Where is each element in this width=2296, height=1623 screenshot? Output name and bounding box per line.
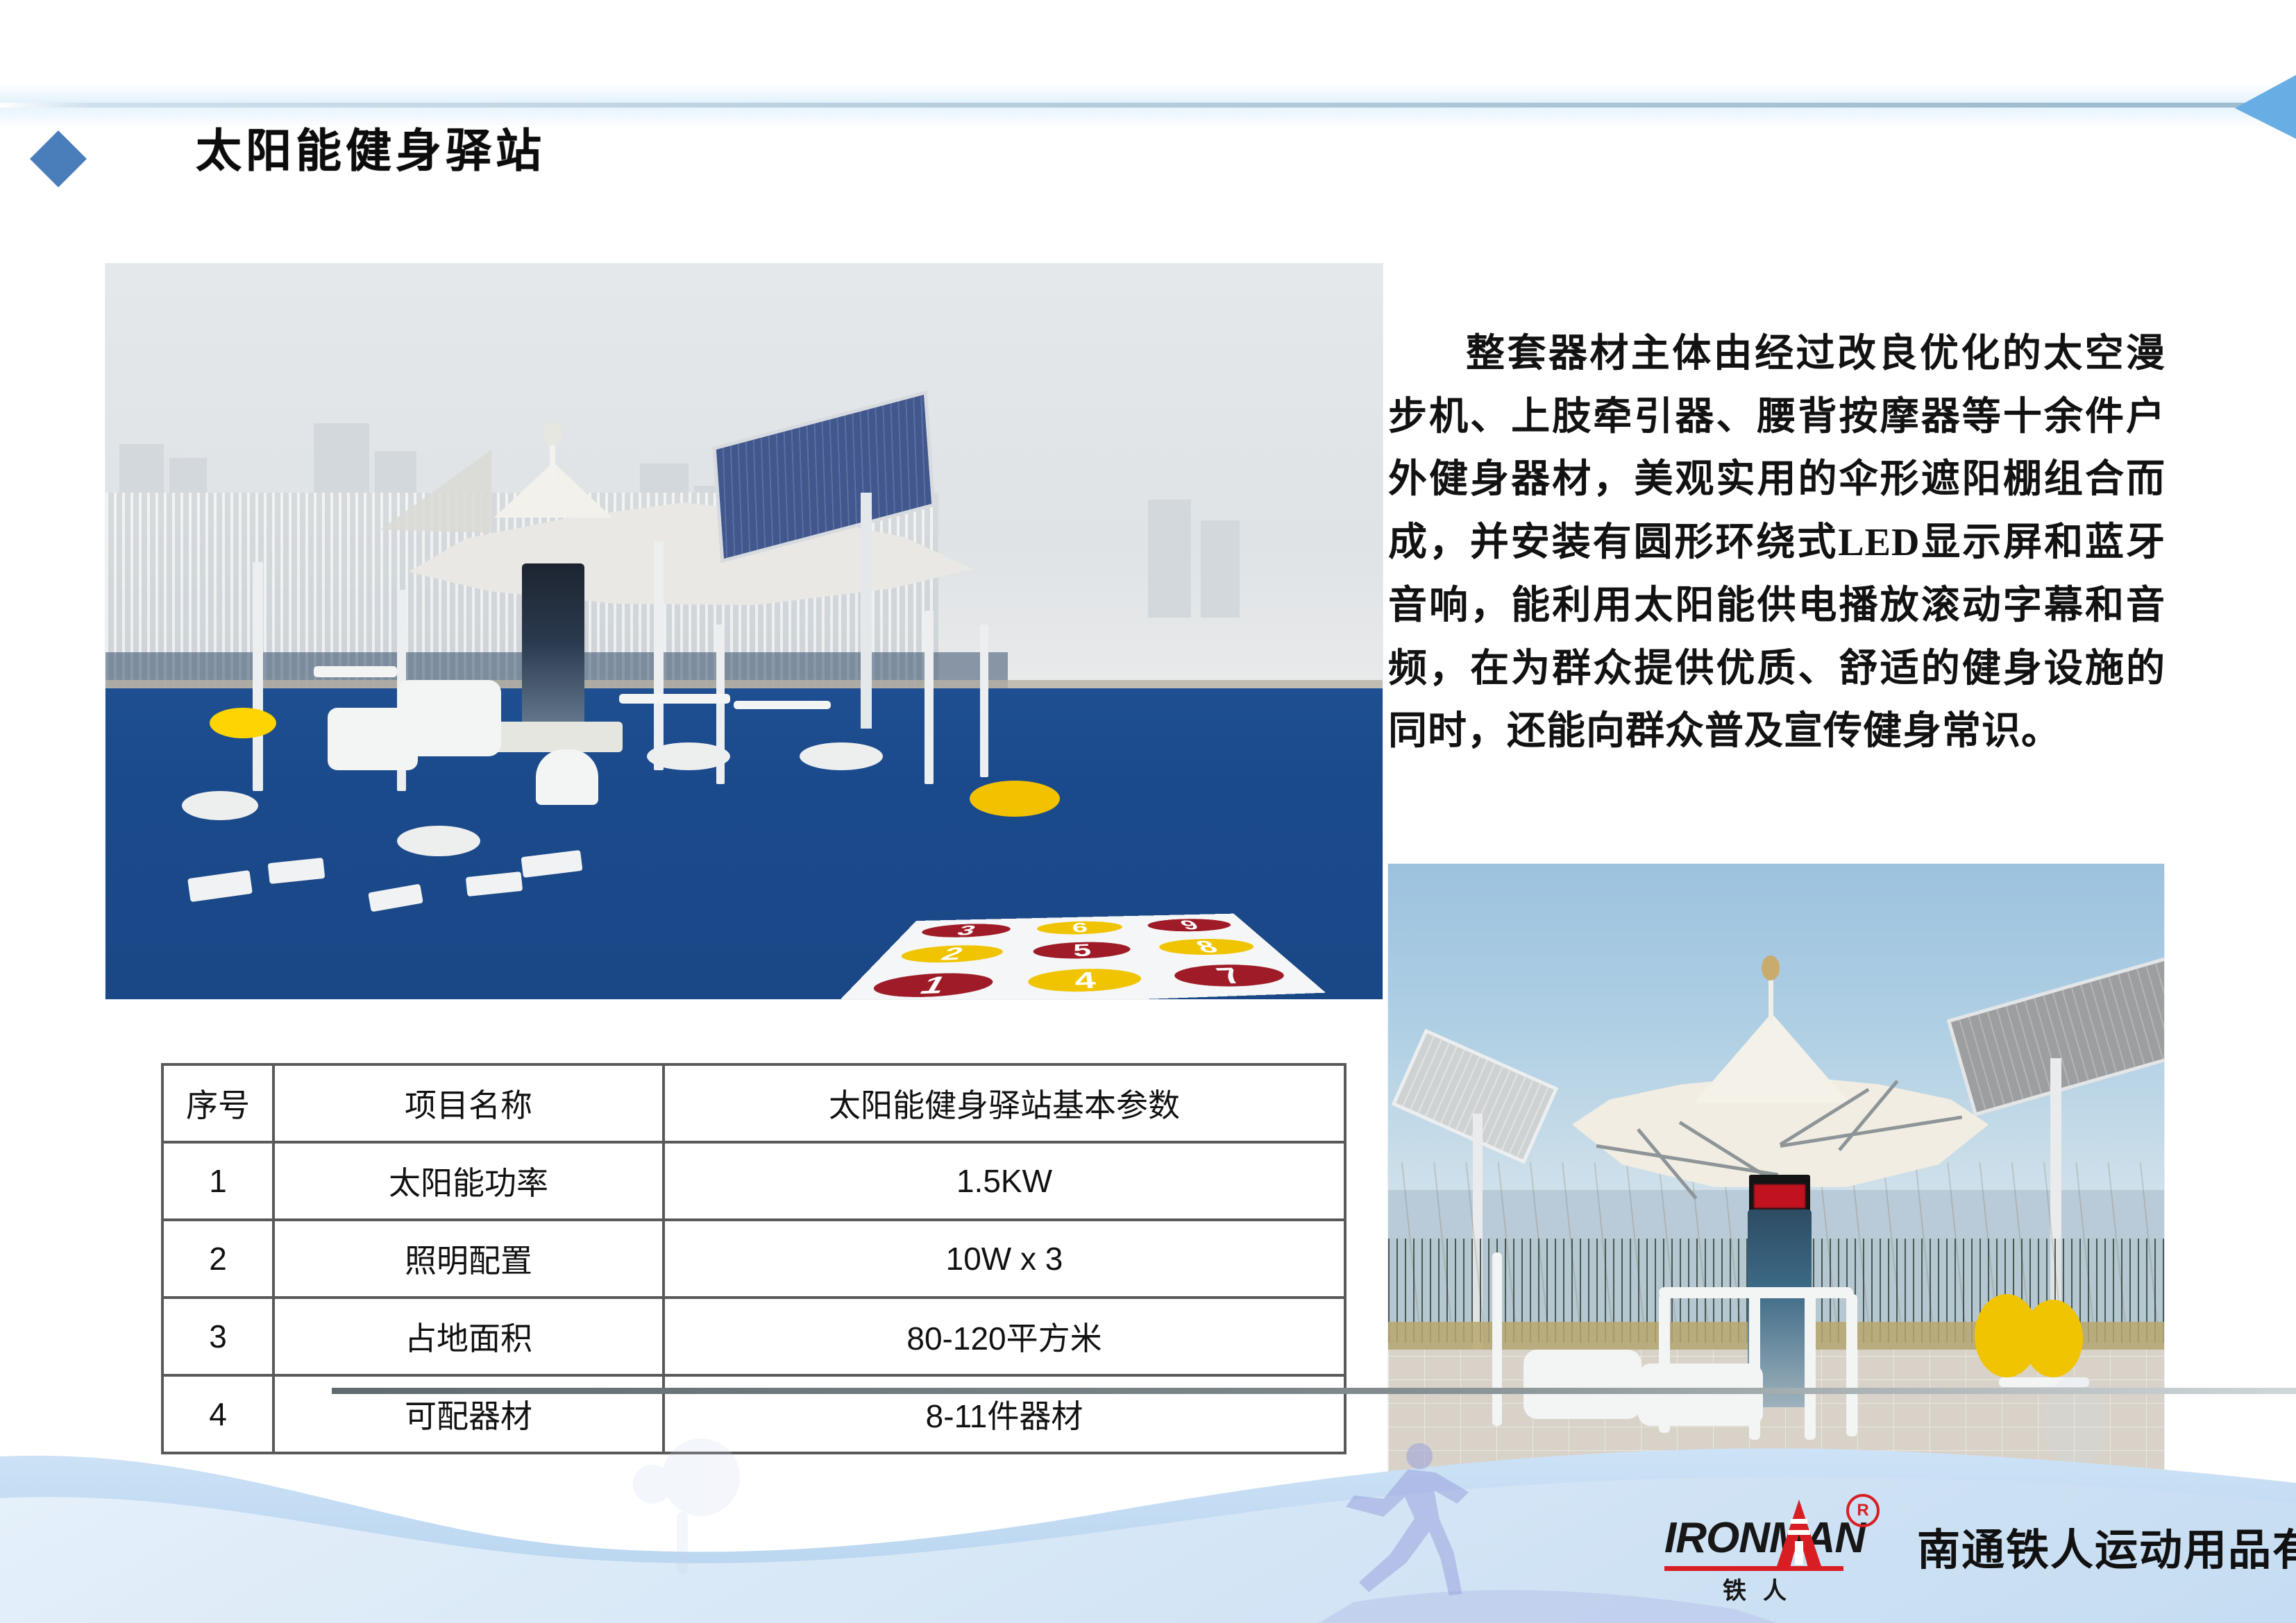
table-cell-value: 10W x 3 (664, 1220, 1345, 1298)
hopscotch-cell: 2 (894, 944, 1005, 965)
table-cell-value: 80-120平方米 (664, 1298, 1345, 1375)
table-cell-no: 1 (162, 1142, 273, 1220)
table-row: 2 照明配置 10W x 3 (162, 1220, 1345, 1298)
brand-footer: IRONMAN R 铁人 南通铁人运动用品有限公司 (1664, 1494, 2296, 1598)
photo-yellow-slide (970, 781, 1060, 817)
description-paragraph: 整套器材主体由经过改良优化的太空漫步机、上肢牵引器、腰背按摩器等十余件户外健身器… (1388, 323, 2166, 763)
table-cell-no: 3 (162, 1298, 273, 1375)
table-header-row: 序号 项目名称 太阳能健身驿站基本参数 (162, 1064, 1345, 1142)
company-name: 南通铁人运动用品有限公司 (1917, 1515, 2296, 1577)
hopscotch-cell: 5 (1032, 941, 1133, 960)
table-cell-value: 1.5KW (664, 1142, 1345, 1220)
logo-underline (1664, 1566, 1843, 1571)
slide-root: 太阳能健身驿站 (0, 0, 2296, 1623)
footer-rule (332, 1388, 2296, 1394)
hopscotch-cell: 3 (917, 923, 1013, 938)
table-cell-item: 占地面积 (273, 1298, 664, 1375)
ironman-figure-icon (1763, 1498, 1835, 1576)
photo-led-kiosk (522, 563, 584, 737)
photo-spire-bulb (543, 422, 562, 445)
page-title-row: 太阳能健身驿站 (0, 124, 972, 207)
photo-yellow-seat (210, 708, 276, 738)
table-cell-no: 2 (162, 1220, 273, 1298)
hopscotch-cell: 4 (1027, 967, 1145, 994)
table-row: 1 太阳能功率 1.5KW (162, 1142, 1345, 1220)
table-header-value: 太阳能健身驿站基本参数 (664, 1064, 1345, 1142)
table-header-no: 序号 (162, 1064, 273, 1142)
secondary-spire-bulb (1762, 955, 1780, 980)
registered-trademark-icon: R (1846, 1494, 1880, 1527)
logo-chinese-name: 铁人 (1723, 1572, 1803, 1606)
hopscotch-cell: 1 (864, 972, 996, 999)
header-rule (0, 103, 2249, 108)
hopscotch-cell: 9 (1145, 918, 1237, 933)
ironman-logo: IRONMAN R 铁人 (1664, 1494, 1893, 1598)
main-photo: 3 6 9 2 5 8 1 4 7 (105, 264, 1383, 999)
table-row: 3 占地面积 80-120平方米 (162, 1298, 1345, 1375)
table-header-item: 项目名称 (273, 1064, 664, 1142)
secondary-canopy-ribs (1596, 1114, 1964, 1183)
hopscotch-cell: 6 (1036, 921, 1124, 935)
photo-kiosk-base (491, 722, 623, 752)
table-cell-item: 照明配置 (273, 1220, 664, 1298)
page-title: 太阳能健身驿站 (196, 124, 546, 181)
hopscotch-cell: 8 (1156, 937, 1261, 956)
diamond-bullet-icon (30, 130, 87, 187)
photo-solar-mast (861, 493, 872, 729)
hopscotch-cell: 7 (1170, 963, 1294, 988)
table-cell-item: 太阳能功率 (273, 1142, 664, 1220)
